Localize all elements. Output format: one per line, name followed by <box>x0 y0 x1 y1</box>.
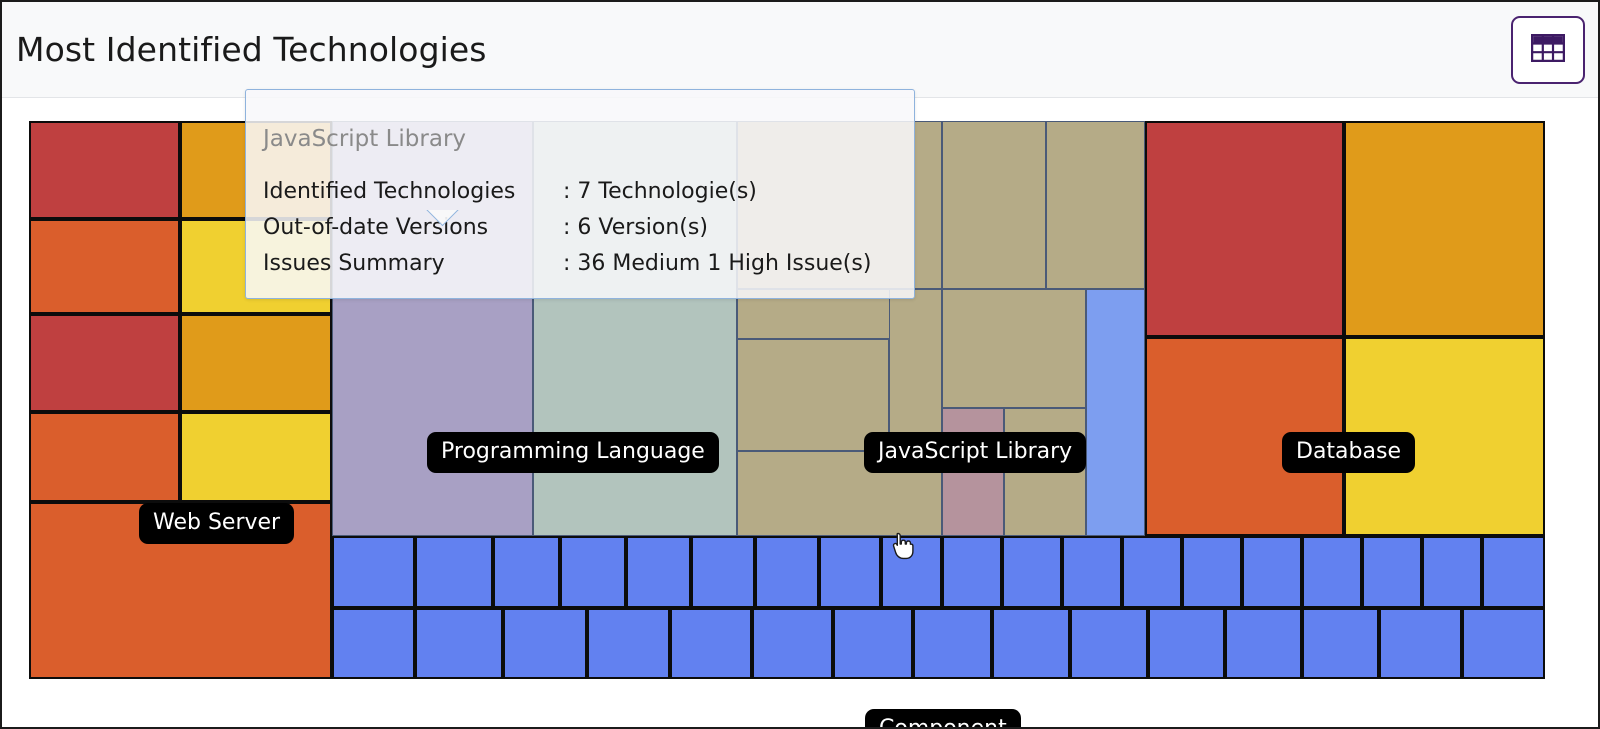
treemap-cell[interactable] <box>587 608 670 679</box>
tooltip-rows: Identified Technologies: 7 Technologie(s… <box>263 174 904 282</box>
widget-header: Most Identified Technologies <box>2 2 1598 98</box>
treemap-cell[interactable] <box>1086 289 1145 536</box>
treemap-cell[interactable] <box>752 608 833 679</box>
treemap-cell[interactable] <box>415 608 503 679</box>
tooltip-row: Identified Technologies: 7 Technologie(s… <box>263 174 904 210</box>
treemap-cell[interactable] <box>1302 536 1362 608</box>
treemap-cell[interactable] <box>180 314 332 412</box>
treemap-cell[interactable] <box>1062 536 1122 608</box>
treemap-cell[interactable] <box>670 608 752 679</box>
tooltip-row-value: : 36 Medium 1 High Issue(s) <box>563 246 871 282</box>
treemap-group-database[interactable] <box>1145 121 1545 536</box>
treemap-cell[interactable] <box>1225 608 1302 679</box>
treemap-cell[interactable] <box>942 536 1002 608</box>
treemap-cell[interactable] <box>1046 121 1145 289</box>
tooltip-row-key: Out-of-date Versions <box>263 210 563 246</box>
treemap-cell[interactable] <box>755 536 819 608</box>
treemap-cell[interactable] <box>493 536 560 608</box>
treemap-node-label: Web Server <box>139 503 294 544</box>
treemap-cell[interactable] <box>1148 608 1225 679</box>
treemap-group-component[interactable] <box>332 536 1545 679</box>
treemap-cell[interactable] <box>1462 608 1545 679</box>
tooltip-row: Out-of-date Versions: 6 Version(s) <box>263 210 904 246</box>
treemap-cell[interactable] <box>626 536 691 608</box>
treemap-node-label: Database <box>1282 432 1415 473</box>
treemap-cell[interactable] <box>819 536 881 608</box>
treemap-cell[interactable] <box>1182 536 1242 608</box>
treemap-cell[interactable] <box>691 536 755 608</box>
treemap-cell[interactable] <box>1242 536 1302 608</box>
treemap-node-label: Programming Language <box>427 432 719 473</box>
tooltip-row: Issues Summary: 36 Medium 1 High Issue(s… <box>263 246 904 282</box>
tooltip-row-key: Identified Technologies <box>263 174 563 210</box>
treemap-cell[interactable] <box>881 536 942 608</box>
treemap-cell[interactable] <box>833 608 913 679</box>
page-title: Most Identified Technologies <box>16 28 487 72</box>
treemap-cell[interactable] <box>415 536 493 608</box>
treemap-cell[interactable] <box>1122 536 1182 608</box>
treemap-cell[interactable] <box>1379 608 1462 679</box>
table-view-toggle-button[interactable] <box>1511 16 1585 84</box>
tooltip-title: JavaScript Library <box>263 124 904 154</box>
treemap-cell[interactable] <box>29 121 180 219</box>
tooltip-row-key: Issues Summary <box>263 246 563 282</box>
treemap-cell[interactable] <box>29 219 180 314</box>
treemap-cell[interactable] <box>1145 121 1344 337</box>
tooltip-row-value: : 7 Technologie(s) <box>563 174 757 210</box>
treemap-cell[interactable] <box>1070 608 1148 679</box>
treemap-tooltip: JavaScript Library Identified Technologi… <box>245 89 915 299</box>
treemap-cell[interactable] <box>560 536 626 608</box>
treemap-cell[interactable] <box>332 536 415 608</box>
treemap-cell[interactable] <box>1002 536 1062 608</box>
treemap-node-label: JavaScript Library <box>864 432 1086 473</box>
treemap-cell[interactable] <box>942 121 1046 289</box>
table-grid-icon <box>1531 34 1565 66</box>
tooltip-row-value: : 6 Version(s) <box>563 210 708 246</box>
treemap-cell[interactable] <box>1422 536 1482 608</box>
treemap-cell[interactable] <box>942 289 1086 408</box>
treemap-cell[interactable] <box>1302 608 1379 679</box>
tooltip-pointer-notch <box>426 210 460 228</box>
treemap-cell[interactable] <box>992 608 1070 679</box>
treemap-widget: Most Identified Technologies Web ServerP… <box>0 0 1600 729</box>
treemap-cell[interactable] <box>29 412 180 502</box>
treemap-cell[interactable] <box>180 412 332 502</box>
treemap-cell[interactable] <box>29 314 180 412</box>
treemap-cell[interactable] <box>913 608 992 679</box>
treemap-node-label: Component <box>865 709 1021 729</box>
treemap-cell[interactable] <box>332 608 415 679</box>
treemap-cell[interactable] <box>1482 536 1545 608</box>
treemap-cell[interactable] <box>503 608 587 679</box>
treemap-cell[interactable] <box>889 289 942 451</box>
treemap-cell[interactable] <box>1344 121 1545 337</box>
treemap-cell[interactable] <box>1362 536 1422 608</box>
